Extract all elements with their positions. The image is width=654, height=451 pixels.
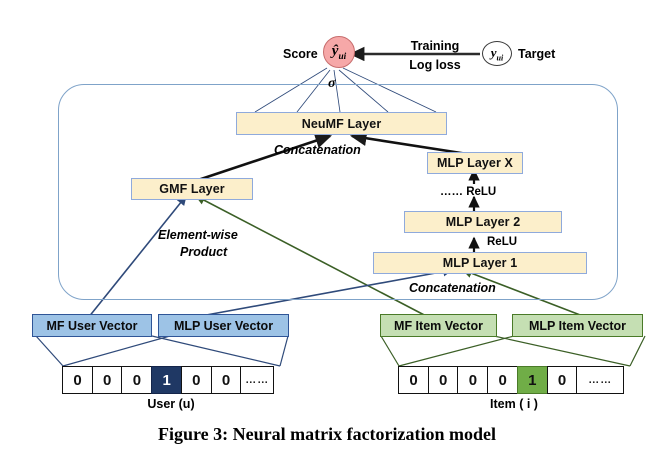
mlp-user-vector-label: MLP User Vector <box>174 319 273 333</box>
onehot-cell[interactable]: 0 <box>92 366 123 394</box>
score-node: ŷui <box>323 36 355 68</box>
concatenation-top-label: Concatenation <box>274 143 361 157</box>
elementwise-label-line2: Product <box>180 245 227 259</box>
onehot-cell[interactable]: …… <box>240 366 274 394</box>
onehot-cell[interactable]: …… <box>576 366 624 394</box>
onehot-cell-active[interactable]: 1 <box>517 366 548 394</box>
concatenation-bottom-label: Concatenation <box>409 281 496 295</box>
item-input-label: Item ( i ) <box>398 397 630 411</box>
mf-user-vector-box[interactable]: MF User Vector <box>32 314 152 337</box>
user-onehot-vector[interactable]: 000100…… <box>62 366 274 394</box>
relu-label: ReLU <box>487 236 517 248</box>
onehot-cell-active[interactable]: 1 <box>151 366 182 394</box>
mlp-layer-2-label: MLP Layer 2 <box>446 215 521 229</box>
onehot-cell[interactable]: 0 <box>547 366 578 394</box>
mlp-item-vector-label: MLP Item Vector <box>529 319 626 333</box>
onehot-cell[interactable]: 0 <box>121 366 152 394</box>
mlp-layer-1-label: MLP Layer 1 <box>443 256 518 270</box>
onehot-cell[interactable]: 0 <box>211 366 242 394</box>
mf-user-vector-label: MF User Vector <box>46 319 137 333</box>
item-onehot-vector[interactable]: 000010…… <box>398 366 624 394</box>
score-symbol: ŷui <box>332 43 346 62</box>
mf-item-vector-box[interactable]: MF Item Vector <box>380 314 497 337</box>
figure-canvas: Score ŷui Training Log loss yui Target σ… <box>0 0 654 451</box>
relu-dots-label: …… ReLU <box>440 186 496 198</box>
figure-caption: Figure 3: Neural matrix factorization mo… <box>0 424 654 445</box>
sigma-label: σ <box>328 76 336 92</box>
onehot-cell[interactable]: 0 <box>181 366 212 394</box>
mlp-layer-2-box[interactable]: MLP Layer 2 <box>404 211 562 233</box>
user-input-label: User (u) <box>62 397 280 411</box>
gmf-layer-label: GMF Layer <box>159 182 225 196</box>
onehot-cell[interactable]: 0 <box>457 366 488 394</box>
mlp-layer-1-box[interactable]: MLP Layer 1 <box>373 252 587 274</box>
target-symbol: yui <box>491 45 504 63</box>
gmf-layer-box[interactable]: GMF Layer <box>131 178 253 200</box>
neumf-layer-label: NeuMF Layer <box>302 117 382 131</box>
target-label: Target <box>518 47 555 61</box>
onehot-cell[interactable]: 0 <box>398 366 429 394</box>
training-label-line2: Log loss <box>392 58 478 72</box>
training-label-line1: Training <box>392 39 478 53</box>
onehot-cell[interactable]: 0 <box>487 366 518 394</box>
mf-item-vector-label: MF Item Vector <box>394 319 483 333</box>
onehot-cell[interactable]: 0 <box>428 366 459 394</box>
target-node: yui <box>482 41 512 66</box>
mlp-layer-x-label: MLP Layer X <box>437 156 513 170</box>
onehot-cell[interactable]: 0 <box>62 366 93 394</box>
score-label: Score <box>283 47 318 61</box>
mlp-item-vector-box[interactable]: MLP Item Vector <box>512 314 643 337</box>
neumf-layer-box[interactable]: NeuMF Layer <box>236 112 447 135</box>
mlp-layer-x-box[interactable]: MLP Layer X <box>427 152 523 174</box>
elementwise-label-line1: Element-wise <box>158 228 238 242</box>
mlp-user-vector-box[interactable]: MLP User Vector <box>158 314 289 337</box>
